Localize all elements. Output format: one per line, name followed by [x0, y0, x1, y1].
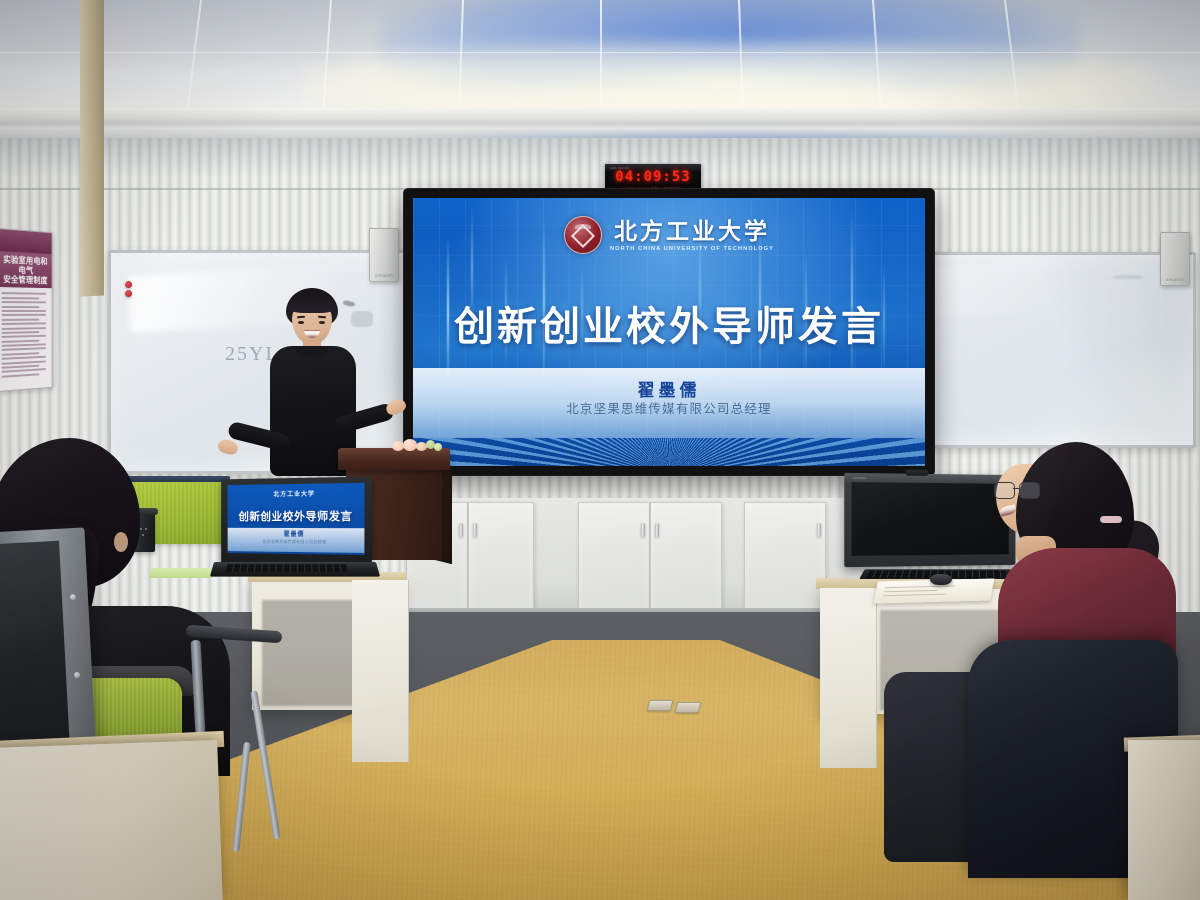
laptop-slide-university: 北方工业大学	[228, 488, 365, 499]
presenter-eye	[319, 321, 325, 324]
wall-top-shadow	[0, 138, 1200, 178]
wall-speaker-right: SPEAKER	[1160, 232, 1190, 286]
laptop-slide-title: 创新创业校外导师发言	[228, 508, 365, 524]
speaker-brand-label: SPEAKER	[1161, 278, 1189, 282]
monitor-screen	[852, 482, 1009, 556]
glasses-bridge	[1013, 488, 1019, 489]
university-crest-icon	[564, 216, 602, 254]
floor-outlet-cover[interactable]	[647, 700, 674, 711]
whiteboard-magnet[interactable]	[125, 281, 132, 288]
student-left-ear	[114, 532, 128, 552]
clock-time-readout: 04:09:53	[605, 169, 701, 185]
slide-bottom-rays	[413, 438, 925, 466]
ceiling-tile-edge	[600, 0, 602, 118]
left-desk-side-panel	[352, 580, 409, 762]
slide-main-title: 创新创业校外导师发言	[413, 294, 925, 352]
university-name-cn: 北方工业大学	[614, 219, 770, 245]
poster-header-bar	[0, 229, 52, 254]
computer-mouse[interactable]	[930, 574, 952, 585]
glasses-lens	[994, 482, 1015, 499]
left-desk-underside	[262, 600, 358, 706]
laptop-keyboard[interactable]	[226, 564, 348, 572]
monitor-webcam	[906, 470, 928, 476]
glasses-lens	[1019, 482, 1040, 499]
presenter-collar	[296, 346, 328, 357]
student-right-glasses	[994, 482, 1038, 498]
presenter-eye	[298, 321, 304, 324]
presentation-display[interactable]: 北方工业大学 NORTH CHINA UNIVERSITY OF TECHNOL…	[404, 189, 934, 475]
speaker-brand-label: SPEAKER	[370, 274, 398, 278]
cabinet-handle[interactable]	[655, 523, 659, 537]
whiteboard-smudge	[1113, 275, 1143, 279]
right-desk-side-panel	[820, 588, 877, 768]
presentation-slide: 北方工业大学 NORTH CHINA UNIVERSITY OF TECHNOL…	[413, 198, 925, 466]
cabinet-handle[interactable]	[459, 523, 463, 537]
ceiling-tile-edge	[186, 0, 202, 117]
cabinet-handle[interactable]	[641, 523, 645, 537]
wall-speaker-left: SPEAKER	[369, 228, 399, 282]
cabinet-handle[interactable]	[473, 523, 477, 537]
laptop-lid: 北方工业大学 创新创业校外导师发言 翟墨儒 北京坚果思维传媒有限公司总经理	[221, 477, 372, 566]
cabinet-door[interactable]	[468, 502, 534, 612]
university-name-en: NORTH CHINA UNIVERSITY OF TECHNOLOGY	[610, 246, 774, 252]
lectern-flowers	[390, 439, 448, 453]
ceiling	[0, 0, 1200, 118]
poster-heading-line2: 安全管理制度	[1, 274, 50, 285]
foreground-desk-edge-left	[80, 0, 104, 297]
laptop-slide-speaker-name: 翟墨儒	[228, 529, 365, 539]
slide-speaker-org: 北京坚果思维传媒有限公司总经理	[413, 398, 925, 417]
foreground-left-desk	[0, 740, 223, 900]
classroom-photo: 实验室用电和电气 安全管理制度 25YLA ∫∂x ⋅ 15 ⋅23ζ ⋯⋯ 3…	[0, 0, 1200, 900]
poster-heading: 实验室用电和电气 安全管理制度	[0, 251, 52, 288]
poster-heading-line1: 实验室用电和电气	[1, 254, 50, 276]
cabinet-door[interactable]	[650, 502, 722, 612]
safety-poster: 实验室用电和电气 安全管理制度	[0, 228, 52, 392]
laptop-screen: 北方工业大学 创新创业校外导师发言 翟墨儒 北京坚果思维传媒有限公司总经理	[228, 483, 365, 555]
whiteboard-magnet[interactable]	[125, 290, 132, 297]
cabinet-door[interactable]	[744, 502, 826, 612]
monitor-brand-label: Lenovo	[853, 475, 867, 479]
cabinet-door[interactable]	[578, 502, 650, 612]
poster-body-text	[0, 287, 52, 383]
slide-university-header: 北方工业大学 NORTH CHINA UNIVERSITY OF TECHNOL…	[413, 216, 925, 254]
student-right-hair-tie	[1100, 516, 1122, 523]
cabinet-handle[interactable]	[817, 523, 821, 537]
foreground-right-desk	[1128, 740, 1200, 900]
floor-outlet-cover[interactable]	[675, 702, 702, 713]
